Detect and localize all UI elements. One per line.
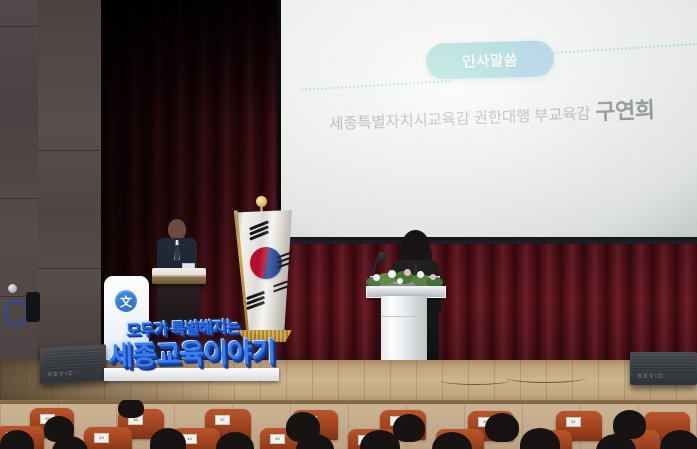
seat-number-tag: 37 <box>215 415 230 425</box>
logo-glyph: 文 <box>115 290 137 312</box>
white-bloom <box>373 274 380 281</box>
projection-screen: 인사말씀 세종특별자치시교육감 권한대행 부교육감구연희 <box>281 0 697 237</box>
floor-cable <box>506 372 586 383</box>
seat-number-tag: 41 <box>566 417 581 427</box>
stage-monitor-speaker: KEVIC <box>40 344 106 383</box>
slide-badge-label: 인사말씀 <box>462 49 518 72</box>
audience-head <box>485 413 519 442</box>
slide-headline-name: 구연희 <box>595 97 655 124</box>
floor-cable <box>440 376 510 385</box>
wall-equipment-gauge <box>8 284 17 293</box>
audience-head <box>393 414 425 442</box>
audience-head <box>118 400 144 418</box>
pillar-seam <box>38 150 101 151</box>
podium-seam <box>381 316 427 317</box>
pillar-seam <box>38 268 101 269</box>
speaker-grill <box>43 347 103 371</box>
flag-finial-icon <box>256 196 267 207</box>
white-bloom <box>388 270 396 278</box>
projection-screen-bottom-edge <box>277 237 697 244</box>
attendant-head <box>168 219 186 240</box>
attendant-tie <box>175 245 179 261</box>
white-bloom <box>397 278 403 284</box>
slide-dotted-line-left <box>301 80 451 91</box>
monitor-brand-label: KEVIC <box>48 371 74 378</box>
wall-equipment-hose <box>4 300 28 326</box>
education-office-logo-icon: 文 <box>115 290 137 312</box>
stage-sign-line-2: 세종교육이야기 <box>108 330 276 373</box>
stage-monitor-speaker: KEVIC <box>630 352 697 385</box>
audience-area: 35 36 37 38 39 40 41 42 43 44 45 46 <box>0 400 697 449</box>
wooden-lectern-top <box>152 268 206 284</box>
monitor-brand-label: KEVIC <box>638 374 664 380</box>
speaker-hair-top <box>402 230 429 260</box>
speaker-grill <box>633 355 694 373</box>
pink-bloom <box>404 269 411 276</box>
left-wall-seam <box>0 198 38 199</box>
left-wall-seam <box>0 26 38 27</box>
pink-bloom <box>430 274 436 280</box>
wall-equipment-bag <box>26 292 40 322</box>
slide-headline: 세종특별자치시교육감 권한대행 부교육감구연희 <box>329 91 690 137</box>
wall-pillar <box>38 0 101 368</box>
auditorium-photo: 인사말씀 세종특별자치시교육감 권한대행 부교육감구연희 文 <box>0 0 697 449</box>
white-bloom <box>417 271 424 278</box>
microphone-icon <box>378 252 386 263</box>
slide-dotted-line-right <box>553 43 697 54</box>
slide-headline-prefix: 세종특별자치시교육감 권한대행 부교육감 <box>329 106 591 133</box>
seat-number-tag: 45 <box>270 434 285 444</box>
slide-badge: 인사말씀 <box>426 40 555 80</box>
seat-number-tag: 43 <box>94 433 109 443</box>
